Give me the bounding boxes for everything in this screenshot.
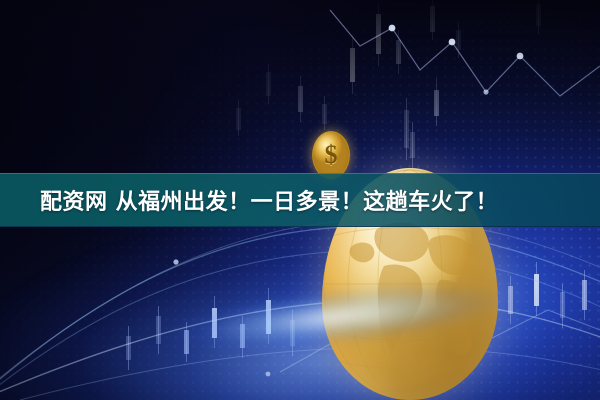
band-top-edge [0,173,600,174]
banner-image: $ [0,0,600,400]
headline-band: 配资网 从福州出发！一日多景！这趟车火了！ [0,173,600,227]
band-bottom-edge [0,226,600,227]
page-title: 配资网 从福州出发！一日多景！这趟车火了！ [40,184,498,216]
